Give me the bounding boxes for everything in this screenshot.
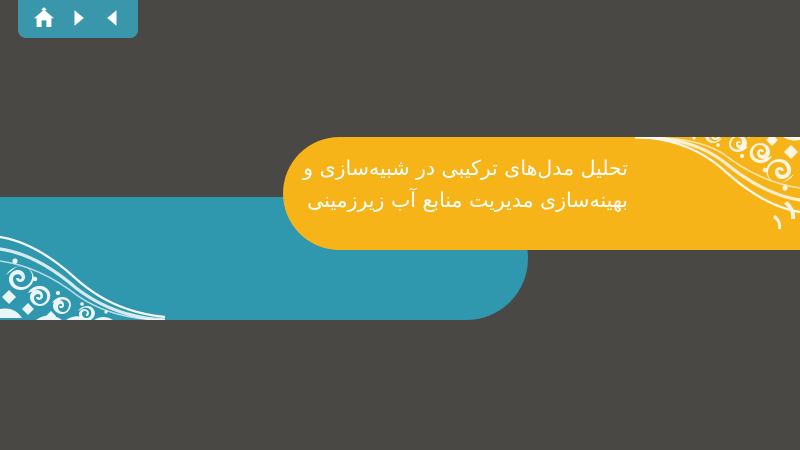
slide-title-line-2: بهینه‌سازی مدیریت منابع آب زیرزمینی (168, 184, 628, 216)
slide-title: تحلیل مدل‌های ترکیبی در شبیه‌سازی و بهین… (168, 152, 628, 216)
home-icon (33, 7, 55, 29)
triangle-left-icon (102, 8, 122, 28)
triangle-right-icon (68, 8, 88, 28)
slide-navigation-bar (18, 0, 138, 38)
arabesque-ornament-icon (635, 137, 800, 250)
arabesque-ornament-icon (0, 197, 165, 320)
presentation-slide: تحلیل مدل‌های ترکیبی در شبیه‌سازی و بهین… (0, 0, 800, 450)
previous-slide-button[interactable] (99, 5, 125, 31)
next-slide-button[interactable] (65, 5, 91, 31)
slide-title-line-1: تحلیل مدل‌های ترکیبی در شبیه‌سازی و (168, 152, 628, 184)
home-button[interactable] (31, 5, 57, 31)
